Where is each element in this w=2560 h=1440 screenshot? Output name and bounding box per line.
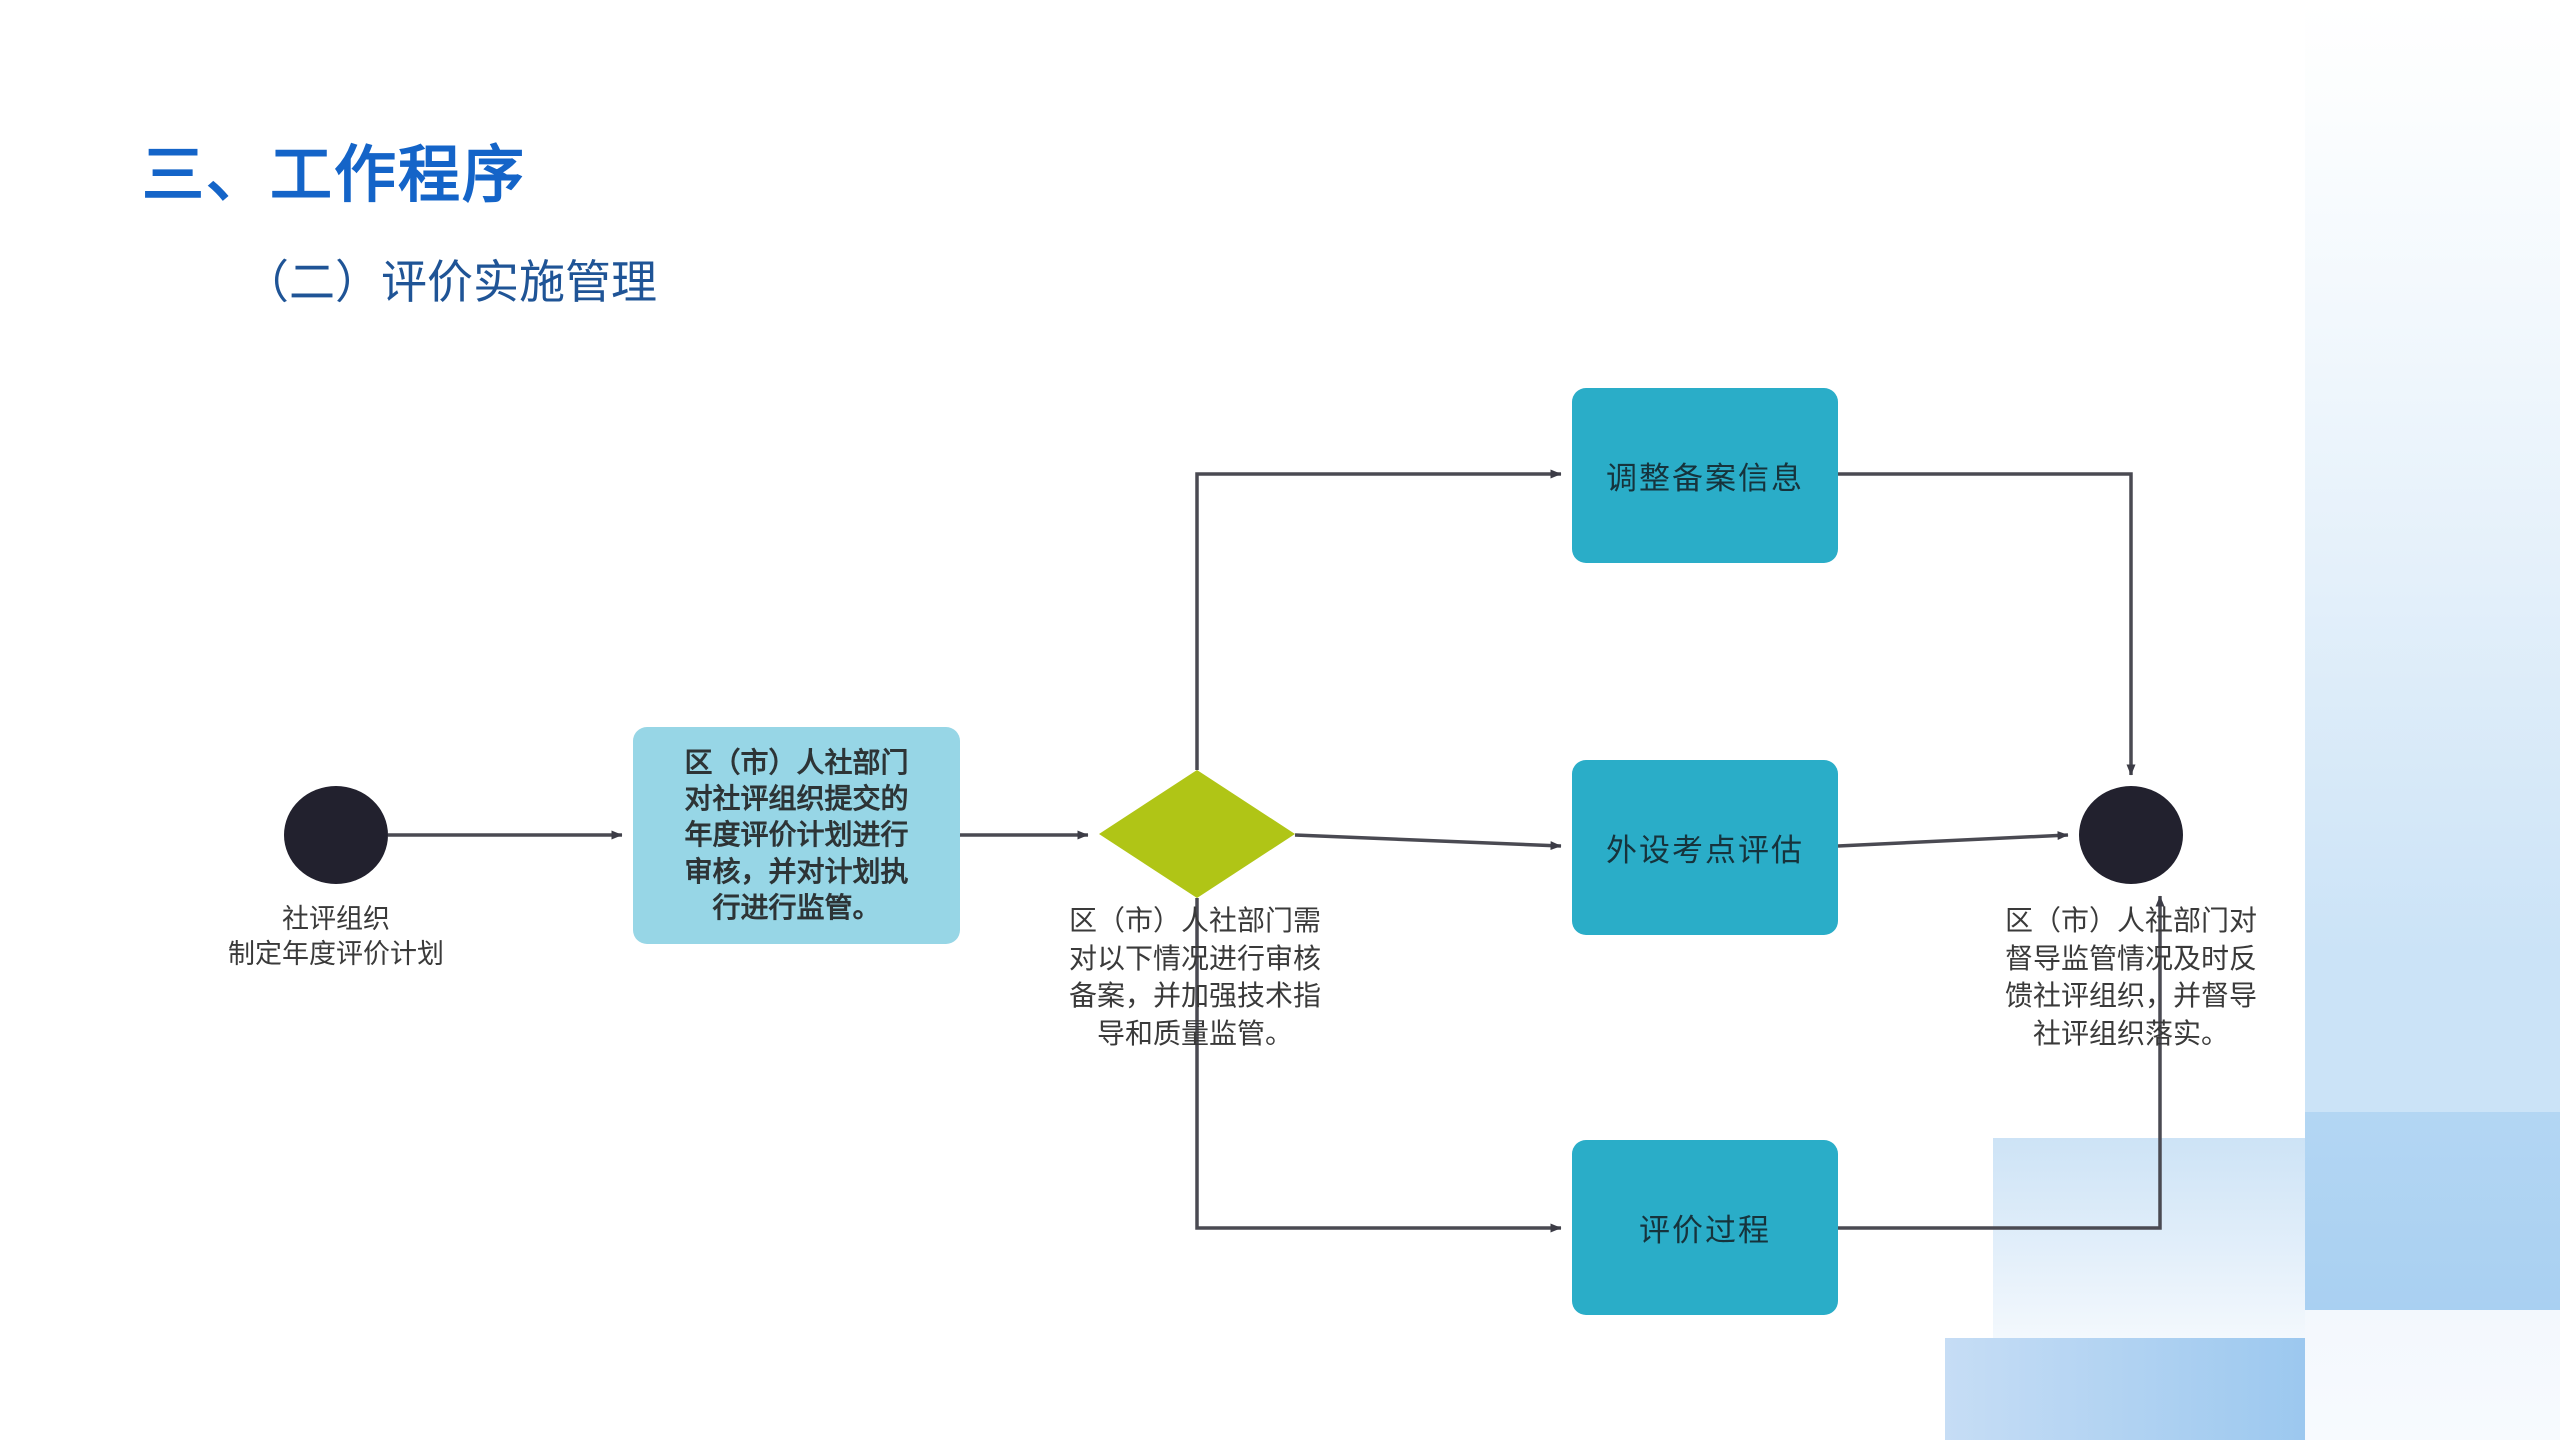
flow-node-decision-caption: 区（市）人社部门需 对以下情况进行审核 备案，并加强技术指 导和质量监管。 (1000, 902, 1390, 1052)
flow-node-end[interactable] (2079, 786, 2183, 884)
flow-node-start[interactable] (284, 786, 388, 884)
edge-task2-to-end (1838, 835, 2068, 846)
decision-diamond (1099, 770, 1295, 898)
page-title: 三、工作程序 (142, 124, 526, 214)
flow-node-start-caption: 社评组织 制定年度评价计划 (136, 902, 536, 972)
flowchart-connectors (0, 0, 2560, 1440)
flow-node-review[interactable]: 区（市）人社部门 对社评组织提交的 年度评价计划进行 审核，并对计划执 行进行监… (633, 727, 960, 944)
edge-decision-to-task2 (1295, 835, 1561, 846)
flow-node-end-caption: 区（市）人社部门对 督导监管情况及时反 馈社评组织，并督导 社评组织落实。 (1926, 902, 2336, 1052)
flow-node-task-evaluation-process[interactable]: 评价过程 (1572, 1140, 1838, 1315)
edge-decision-to-task1 (1197, 474, 1561, 770)
flow-node-task-external-site-eval[interactable]: 外设考点评估 (1572, 760, 1838, 935)
page-subtitle: （二）评价实施管理 (243, 246, 657, 312)
flow-node-task-adjust-record[interactable]: 调整备案信息 (1572, 388, 1838, 563)
edge-task1-to-end (1838, 474, 2131, 775)
